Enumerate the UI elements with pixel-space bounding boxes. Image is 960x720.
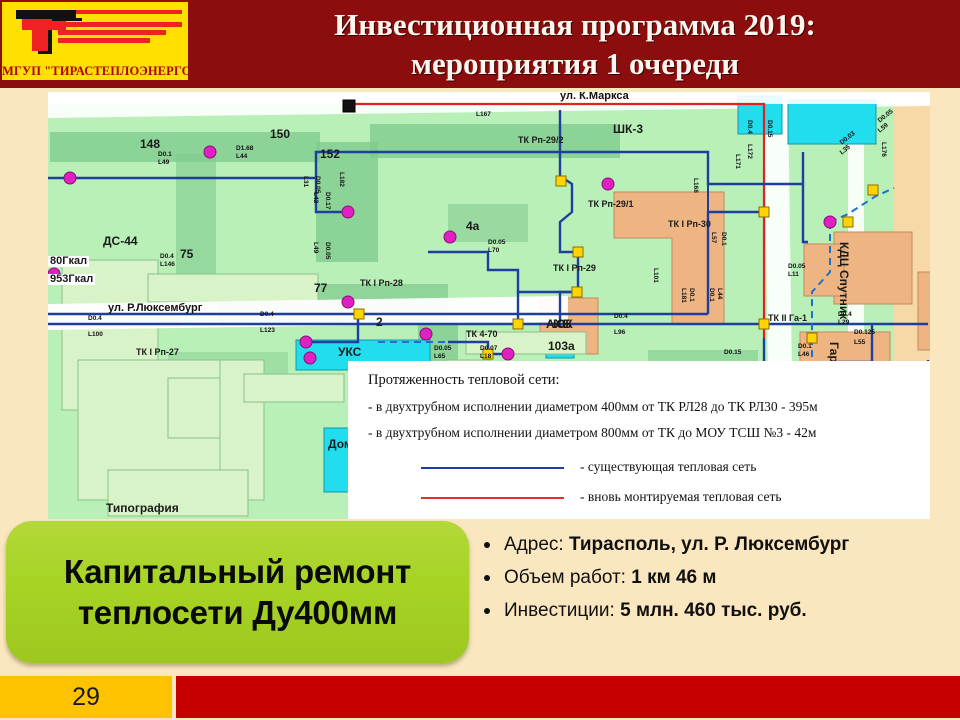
- map-node-label: ТК I Рп-27: [136, 348, 179, 357]
- map-pipe-label: D0.4: [745, 120, 754, 134]
- map-heat-value: 953Гкал: [48, 274, 95, 285]
- map-node-label: ТК I Рп-29: [553, 264, 596, 273]
- detail-value: 5 млн. 460 тыс. руб.: [620, 600, 807, 621]
- legend-row-400mm: - в двухтрубном исполнении диаметром 400…: [368, 399, 818, 415]
- map-pipe-label: L49: [311, 242, 320, 253]
- detail-value: 1 км 46 м: [631, 567, 716, 588]
- map-building-label: АХБ: [546, 320, 571, 329]
- map-node-label: ТК II Га-1: [768, 314, 807, 323]
- map-pipe-label: L101: [651, 268, 660, 283]
- map-node-label: ТК Рп-29/1: [588, 200, 633, 209]
- map-pipe-label: L167: [476, 110, 491, 119]
- map-street-label: ул. Р.Люксембург: [108, 304, 202, 313]
- detail-label: Объем работ:: [504, 567, 626, 588]
- page-number-block: 29: [0, 676, 172, 718]
- list-item: Инвестиции: 5 млн. 460 тыс. руб.: [482, 599, 952, 623]
- map-plot-number: 2: [376, 318, 383, 327]
- map-building-label: ШК-3: [613, 125, 643, 134]
- project-callout: Капитальный ремонт теплосети Ду400мм: [6, 521, 469, 663]
- map-pipe-label: D0.4: [88, 314, 102, 323]
- tirasteploenergo-logo-icon: [2, 2, 188, 60]
- bullet-dot-icon: [484, 542, 490, 548]
- map-pipe-label: L44: [715, 288, 724, 299]
- map-building-label: Типография: [106, 504, 179, 513]
- map-pipe-label: L100: [88, 330, 103, 339]
- detail-label: Адрес:: [504, 534, 564, 555]
- map-pipe-label: D0.17: [323, 192, 332, 209]
- map-pipe-label: L46: [798, 350, 809, 359]
- map-plot-number: 75: [180, 250, 193, 259]
- map-building-label: УКС: [338, 348, 361, 357]
- map-pipe-label: L168: [691, 178, 700, 193]
- map-pipe-label: L29: [838, 318, 849, 327]
- legend-title: Протяженность тепловой сети:: [368, 372, 560, 389]
- map-pipe-label: D0.4: [614, 312, 628, 321]
- logo-caption: МГУП "ТИРАСТЕПЛОЭНЕРГО": [2, 64, 188, 79]
- bullet-dot-icon: [484, 575, 490, 581]
- map-pipe-label: D0.125: [854, 328, 875, 337]
- map-plot-number: 148: [140, 140, 160, 149]
- map-heat-value: 80Гкал: [48, 256, 89, 267]
- map-node-label: ТК I Рп-30: [668, 220, 711, 229]
- map-pipe-label: L146: [160, 260, 175, 269]
- map-pipe-label: L18: [480, 352, 491, 361]
- map-plot-number: 150: [270, 130, 290, 139]
- map-pipe-label: L176: [879, 142, 888, 157]
- callout-line-2: теплосети Ду400мм: [78, 592, 397, 633]
- company-logo: МГУП "ТИРАСТЕПЛОЭНЕРГО": [2, 2, 188, 80]
- map-plot-number: 77: [314, 284, 327, 293]
- map-building-label: 103а: [548, 342, 575, 351]
- map-pipe-label: L123: [260, 326, 275, 335]
- map-pipe-label: D0.15: [765, 120, 774, 137]
- legend-key-label-new: - вновь монтируемая тепловая сеть: [580, 489, 782, 505]
- map-pipe-label: L42: [311, 192, 320, 203]
- list-item: Объем работ: 1 км 46 м: [482, 566, 952, 590]
- project-details-list: Адрес: Тирасполь, ул. Р. Люксембург Объе…: [482, 533, 952, 632]
- map-pipe-label: L171: [733, 154, 742, 169]
- detail-label: Инвестиции:: [504, 600, 615, 621]
- map-building-label: КДЦ Спутник: [839, 242, 848, 319]
- map-pipe-label: D0.4: [260, 310, 274, 319]
- list-item: Адрес: Тирасполь, ул. Р. Люксембург: [482, 533, 952, 557]
- map-pipe-label: D0.1: [719, 232, 728, 246]
- detail-value: Тирасполь, ул. Р. Люксембург: [569, 534, 849, 555]
- map-pipe-label: L57: [709, 232, 718, 243]
- map-street-label: ул. К.Маркса: [560, 92, 629, 101]
- map-building-label: 4а: [466, 222, 479, 231]
- map-pipe-label: L49: [158, 158, 169, 167]
- footer-bar: [176, 676, 960, 718]
- map-building-label: ДС-44: [103, 237, 138, 246]
- map-pipe-label: L96: [614, 328, 625, 337]
- slide: МГУП "ТИРАСТЕПЛОЭНЕРГО" Инвестиционная п…: [0, 0, 960, 720]
- map-pipe-label: L172: [745, 144, 754, 159]
- map-plot-number: 152: [320, 150, 340, 159]
- map-node-label: ТК 4-70: [466, 330, 498, 339]
- title-line-1: Инвестиционная программа 2019:: [334, 5, 816, 44]
- map-pipe-label: L182: [337, 172, 346, 187]
- legend-key-label-existing: - существующая тепловая сеть: [580, 459, 756, 475]
- map-pipe-label: D0.05: [323, 242, 332, 259]
- map-pipe-label: D0.1: [687, 288, 696, 302]
- legend-row-800mm: - в двухтрубном исполнении диаметром 800…: [368, 425, 816, 441]
- map-node-label: ТК I Рп-28: [360, 279, 403, 288]
- heating-network-map[interactable]: ул. К.Маркса ул. Р.Люксембург ШК-3 ЮК 4а…: [48, 92, 930, 519]
- map-pipe-label: D0.15: [724, 348, 741, 357]
- map-node-label: ТК Рп-29/2: [518, 136, 563, 145]
- map-pipe-label: D0.05: [313, 176, 322, 193]
- title-line-2: мероприятия 1 очереди: [411, 44, 739, 83]
- legend-key-line-new: [421, 497, 564, 499]
- callout-line-1: Капитальный ремонт: [64, 551, 411, 592]
- page-number: 29: [0, 683, 172, 712]
- map-legend-panel: Протяженность тепловой сети: - в двухтру…: [348, 361, 930, 519]
- map-pipe-label: L65: [434, 352, 445, 361]
- map-pipe-label: L11: [788, 270, 799, 279]
- slide-title: Инвестиционная программа 2019: мероприят…: [190, 0, 960, 88]
- map-pipe-label: L31: [301, 176, 310, 187]
- map-pipe-label: L44: [236, 152, 247, 161]
- map-pipe-label: L55: [854, 338, 865, 347]
- legend-key-line-existing: [421, 467, 564, 469]
- map-pipe-label: L70: [488, 246, 499, 255]
- bullet-dot-icon: [484, 608, 490, 614]
